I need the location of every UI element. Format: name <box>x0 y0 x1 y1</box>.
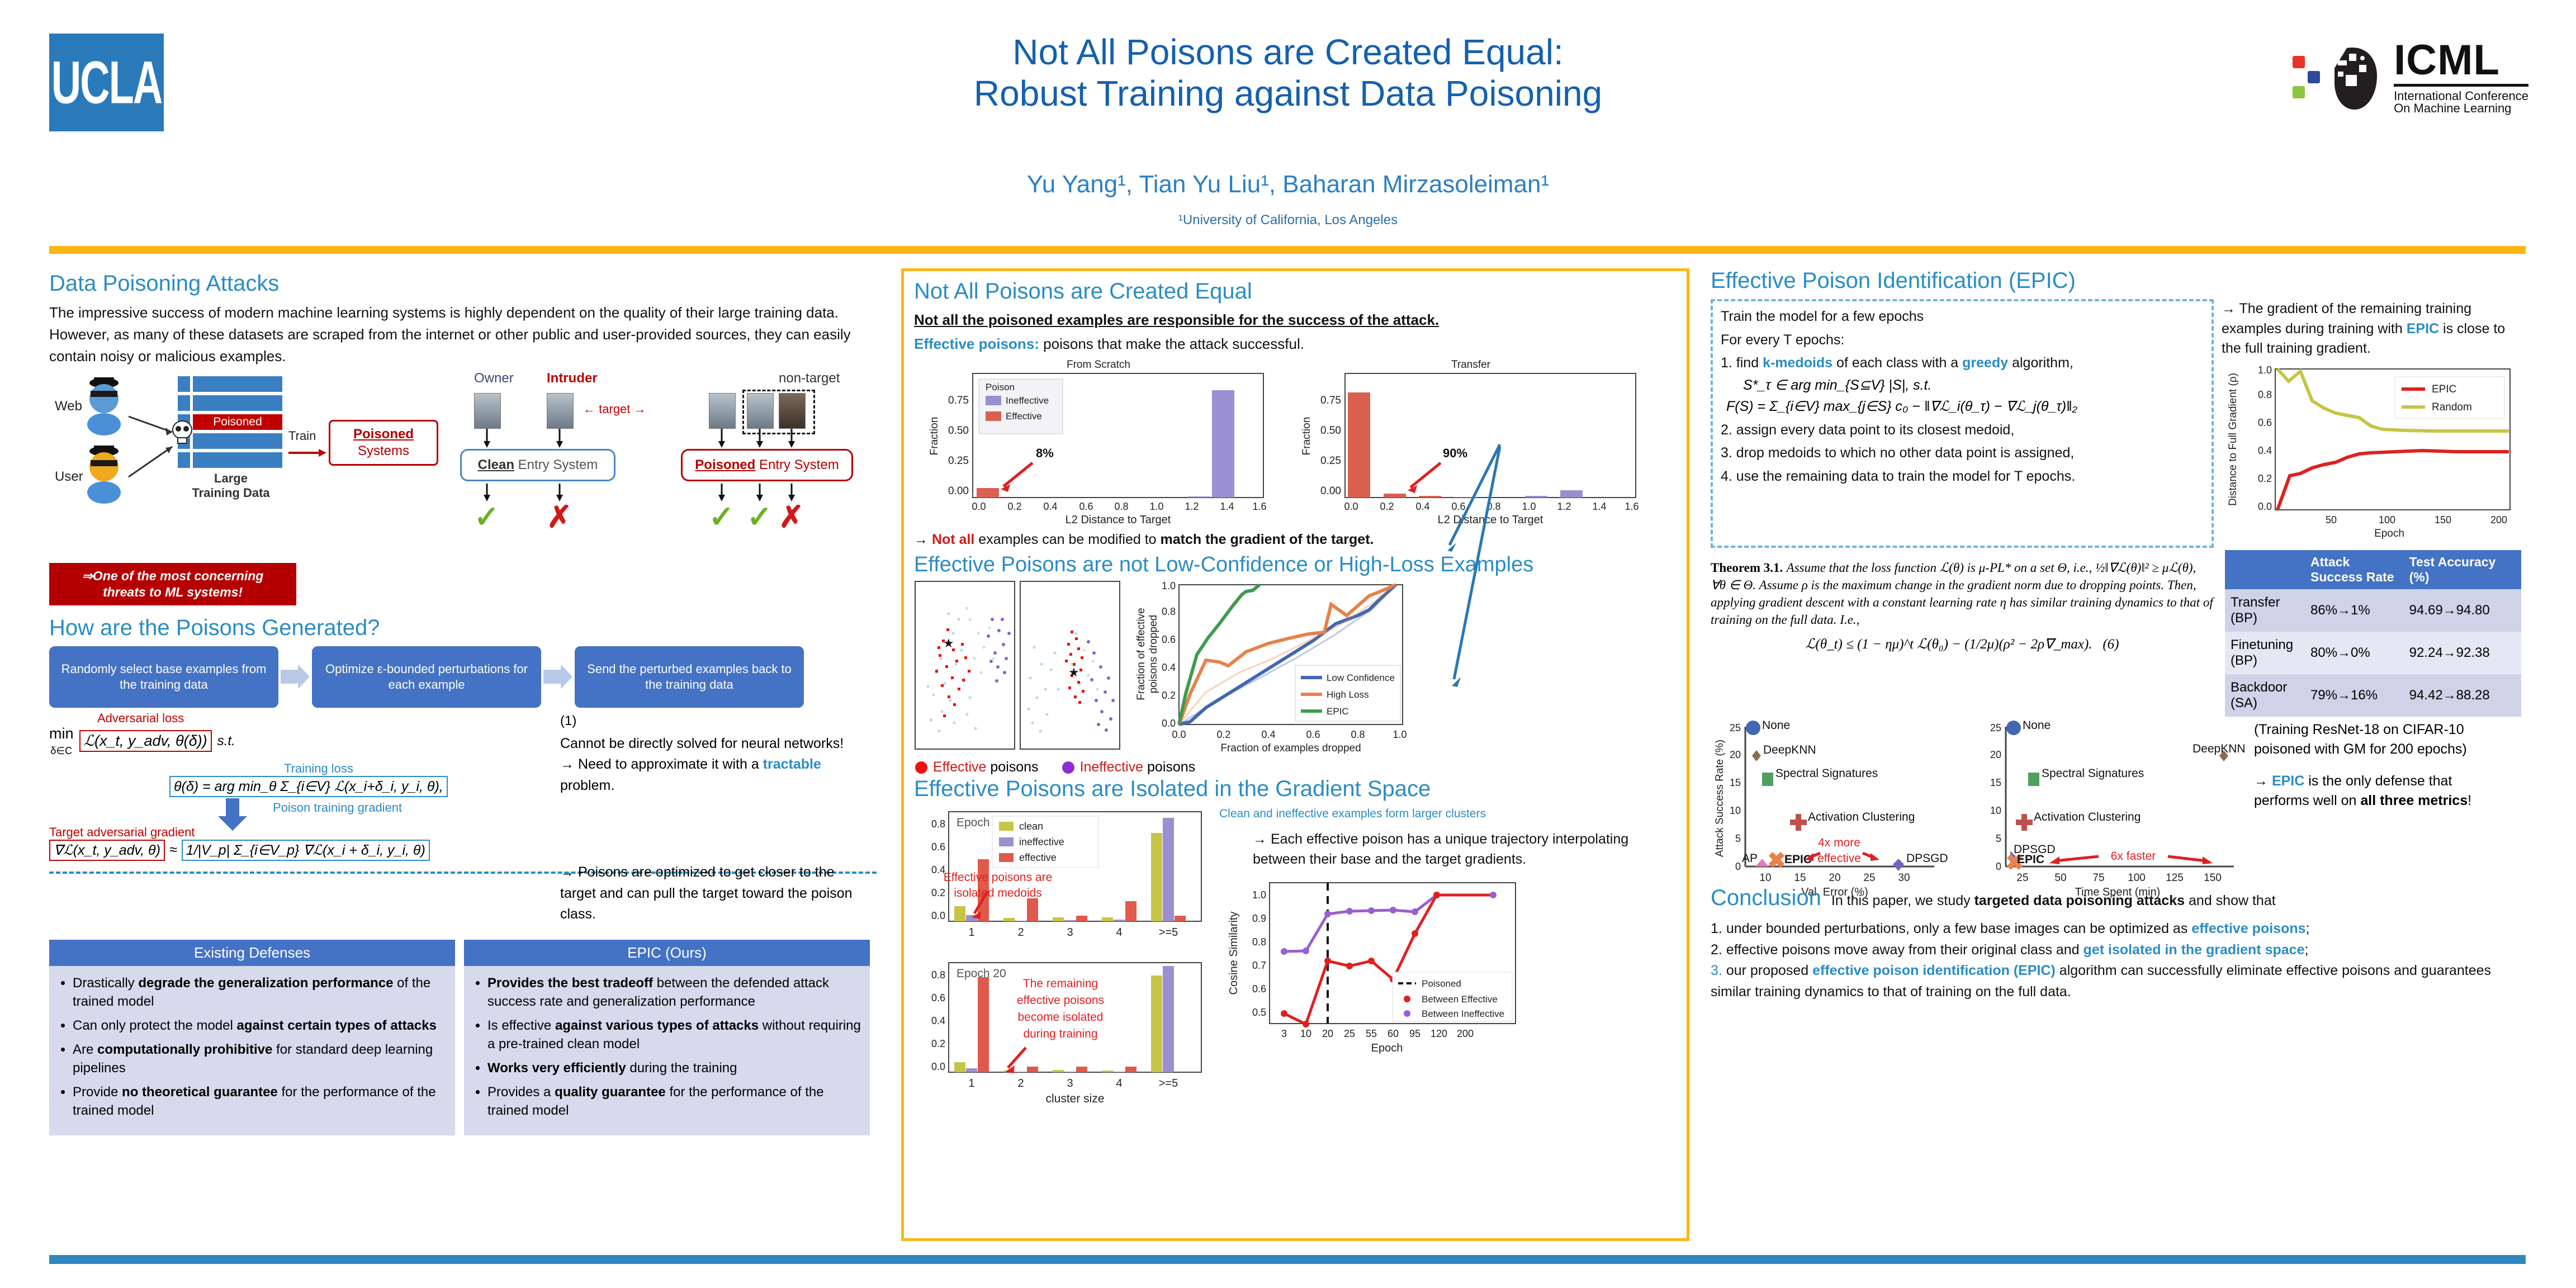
theorem-equation: ℒ(θ_t) ≤ (1 − ημ)^t ℒ(θ₀) − (1/2μ)(ρ² − … <box>1711 635 2214 654</box>
svg-text:Distance to Full Gradient (ρ): Distance to Full Gradient (ρ) <box>2227 373 2239 506</box>
chart-asr-vs-valerror: 0510 152025 Attack Success Rate (%) None… <box>1711 720 1968 905</box>
svg-text:1: 1 <box>968 1077 974 1090</box>
svg-text:25: 25 <box>1990 722 2001 733</box>
svg-text:5: 5 <box>1996 833 2001 844</box>
clean-entry-rest: Entry System <box>514 457 598 472</box>
svg-text:1.6: 1.6 <box>1625 501 1639 512</box>
svg-text:10: 10 <box>1300 1028 1311 1039</box>
svg-text:EPIC: EPIC <box>1327 706 1349 717</box>
svg-text:Effective: Effective <box>1006 411 1042 422</box>
adversarial-loss-label: Adversarial loss <box>97 711 552 726</box>
chart-cluster-epoch10: Epoch 10 0.00.20.40.60.8 clean ineffe <box>914 807 1216 958</box>
definition-text: Effective poisons: poisons that make the… <box>914 334 1677 354</box>
poster-root: UCLA Not All Poisons are Created Equal: … <box>0 0 2576 1288</box>
svg-text:Between Ineffective: Between Ineffective <box>1422 1008 1504 1019</box>
svg-text:1.4: 1.4 <box>1592 501 1606 512</box>
svg-text:8%: 8% <box>1036 446 1054 460</box>
svg-text:4: 4 <box>1116 926 1122 939</box>
svg-text:during training: during training <box>1023 1027 1097 1040</box>
svg-text:Fraction: Fraction <box>929 416 940 455</box>
user-icon <box>82 443 126 504</box>
section-data-poisoning-attacks-title: Data Poisoning Attacks <box>49 271 877 296</box>
svg-text:200: 200 <box>1457 1028 1474 1039</box>
legend-effective-word: Effective <box>933 759 986 775</box>
svg-text:0.2: 0.2 <box>931 887 945 898</box>
callout-black-text: → Each effective poison has a unique tra… <box>1253 830 1665 869</box>
theorem-table-row: Theorem 3.1. Assume that the loss functi… <box>1711 550 2532 717</box>
title-line-2: Robust Training against Data Poisoning <box>0 73 2576 114</box>
svg-text:Cosine Similarity: Cosine Similarity <box>1228 912 1240 995</box>
svg-text:0.8: 0.8 <box>1252 936 1266 948</box>
svg-text:15: 15 <box>1990 777 2001 788</box>
down-arrow-icon <box>217 798 248 831</box>
svg-text:>=5: >=5 <box>1159 926 1178 939</box>
svg-text:0.4: 0.4 <box>1415 501 1429 512</box>
equation-column: Adversarial loss min δ∈C ℒ(x_t, y_adv, θ… <box>49 711 552 925</box>
skull-icon <box>171 420 193 446</box>
svg-text:0.6: 0.6 <box>1306 729 1320 740</box>
chart-from-scratch-hist: From Scratch 0.000.250.500.75 Fraction 8… <box>914 359 1272 527</box>
defense-comparison: Existing Defenses Drastically degrade th… <box>49 940 877 1136</box>
svg-text:100: 100 <box>2379 514 2395 525</box>
poisoned-entry-rest: Entry System <box>755 457 839 472</box>
chart-cluster-epoch20: Epoch 20 0.00.20.40.60.8 The remaining e… <box>914 958 1216 1120</box>
intruder-label: Intruder <box>547 371 598 386</box>
face-owner <box>474 393 501 429</box>
svg-text:150: 150 <box>2204 872 2222 884</box>
list-item: Is effective against various types of at… <box>487 1016 861 1053</box>
eq1-body: ℒ(x_t, y_adv, θ(δ)) <box>79 730 212 752</box>
effective-dot-icon <box>914 760 929 775</box>
poison-generation-flow: Randomly select base examples from the t… <box>49 646 877 708</box>
svg-text:25: 25 <box>1863 872 1875 884</box>
table-header-asr: Attack Success Rate <box>2305 550 2404 589</box>
svg-text:0.6: 0.6 <box>931 841 945 853</box>
svg-text:100: 100 <box>2128 872 2146 884</box>
svg-text:0.5: 0.5 <box>1252 1007 1266 1018</box>
existing-defenses-header: Existing Defenses <box>49 940 455 966</box>
svg-text:10: 10 <box>1730 805 1741 816</box>
svg-text:3: 3 <box>1281 1028 1287 1039</box>
svg-text:1.0: 1.0 <box>1393 729 1407 740</box>
svg-text:4x more: 4x more <box>1818 836 1860 849</box>
svg-text:0: 0 <box>1996 861 2001 872</box>
chart-embedding-scatter-pair: ★ <box>914 580 1121 765</box>
algo-step-4: 4. use the remaining data to train the m… <box>1721 467 2204 487</box>
owner-label: Owner <box>474 371 514 386</box>
svg-text:10: 10 <box>1990 805 2001 816</box>
chart-distance-full-gradient: 0.00.20.4 0.60.81.0 Distance to Full Gra… <box>2222 363 2523 548</box>
svg-text:0.25: 0.25 <box>948 455 969 467</box>
epic-ours-body: Provides the best tradeoff between the d… <box>464 966 870 1136</box>
ineffective-dot-icon <box>1061 760 1076 775</box>
target-label: ← target → <box>583 402 646 416</box>
eq3-left: ∇ℒ(x_t, y_adv, θ) <box>49 840 165 861</box>
svg-text:0.4: 0.4 <box>1043 501 1057 512</box>
svg-text:1.4: 1.4 <box>1220 501 1234 512</box>
svg-text:Transfer: Transfer <box>1451 359 1491 371</box>
svg-text:0.75: 0.75 <box>1320 395 1341 406</box>
author-list: Yu Yang¹, Tian Yu Liu¹, Baharan Mirzasol… <box>0 171 2576 198</box>
list-item: Works very efficiently during the traini… <box>487 1059 861 1077</box>
scatter-and-curve-row: ★ <box>914 580 1677 765</box>
note-1-line-1: Cannot be directly solved for neural net… <box>560 733 873 755</box>
hacker-web-icon <box>82 375 126 435</box>
chart-cosine-similarity: 0.50.60.7 0.80.91.0 Cosine Similarity <box>1219 878 1532 1063</box>
svg-text:0.00: 0.00 <box>1320 485 1341 497</box>
icml-dots-icon <box>2293 56 2320 98</box>
eq1-min: min <box>49 725 74 742</box>
svg-text:3: 3 <box>1067 1077 1073 1090</box>
note-2: → Poisons are optimized to get closer to… <box>560 862 873 925</box>
ingest-arrows-icon <box>127 393 178 488</box>
svg-text:0.25: 0.25 <box>1320 455 1341 467</box>
algo-step-3: 3. drop medoids to which no other data p… <box>1721 443 2204 463</box>
train-arrow-icon <box>288 447 328 459</box>
threat-banner-line1: ⇒One of the most concerning <box>53 568 293 584</box>
chart-fraction-dropped: 0.00.20.4 0.60.81.0 Fraction of effectiv… <box>1128 580 1418 765</box>
svg-text:From Scratch: From Scratch <box>1067 359 1130 371</box>
svg-text:0.0: 0.0 <box>2258 501 2272 512</box>
svg-text:0.8: 0.8 <box>931 969 945 981</box>
check-icon-1: ✓ <box>474 499 499 534</box>
svg-text:Activation Clustering: Activation Clustering <box>1808 811 1915 823</box>
svg-text:0.6: 0.6 <box>1079 501 1093 512</box>
svg-text:25: 25 <box>1730 722 1741 733</box>
theorem-body: Assume that the loss function ℒ(θ) is μ-… <box>1711 561 2213 627</box>
svg-text:150: 150 <box>2435 514 2451 525</box>
svg-text:effective: effective <box>1817 852 1861 865</box>
svg-text:Spectral Signatures: Spectral Signatures <box>2042 767 2144 780</box>
algo-line-1: For every T epochs: <box>1721 330 2204 351</box>
svg-text:isolated medoids: isolated medoids <box>954 887 1042 899</box>
svg-text:1.2: 1.2 <box>1185 501 1199 512</box>
check-icon-3: ✓ <box>747 499 772 534</box>
epic-algorithm-box: Train the model for a few epochs For eve… <box>1711 299 2214 548</box>
svg-text:Effective poisons are: Effective poisons are <box>944 871 1053 884</box>
check-icon-2: ✓ <box>709 499 734 534</box>
existing-defenses-list: Drastically degrade the generalization p… <box>58 974 446 1120</box>
svg-text:15: 15 <box>1730 777 1741 788</box>
svg-text:0.6: 0.6 <box>931 992 945 1003</box>
icml-wordmark: ICML International Conference On Machine… <box>2394 39 2528 115</box>
svg-text:0.0: 0.0 <box>931 910 945 921</box>
svg-text:0.9: 0.9 <box>1252 913 1266 924</box>
section-epic-title: Effective Poison Identification (EPIC) <box>1711 268 2532 293</box>
svg-text:25: 25 <box>1344 1028 1355 1039</box>
takeaway-1: → Not all examples can be modified to ma… <box>914 530 1677 550</box>
svg-text:ineffective: ineffective <box>1019 836 1064 847</box>
svg-text:1.0: 1.0 <box>1149 501 1163 512</box>
svg-text:1.0: 1.0 <box>1522 501 1536 512</box>
flow-step-3: Send the perturbed examples back to the … <box>575 646 804 708</box>
row-label-finetuning: Finetuning (BP) <box>2225 632 2305 674</box>
icml-logo: ICML International Conference On Machine… <box>2293 39 2528 115</box>
svg-text:>=5: >=5 <box>1159 1077 1178 1090</box>
svg-text:Random: Random <box>2432 401 2472 413</box>
section-how-poisons-generated-title: How are the Poisons Generated? <box>49 615 877 641</box>
page-title: Not All Poisons are Created Equal: Robus… <box>0 31 2576 114</box>
row-asr-backdoor: 79%→16% <box>2305 674 2404 717</box>
clean-entry-bold: Clean <box>478 457 514 472</box>
svg-text:Fraction: Fraction <box>1301 416 1313 455</box>
svg-text:0.50: 0.50 <box>1320 425 1341 437</box>
svg-text:2: 2 <box>1017 926 1024 939</box>
svg-text:0.00: 0.00 <box>948 485 969 497</box>
svg-text:200: 200 <box>2490 514 2507 525</box>
svg-text:High Loss: High Loss <box>1327 689 1369 700</box>
svg-text:90%: 90% <box>1443 446 1467 460</box>
svg-text:0.2: 0.2 <box>1007 501 1021 512</box>
chart-asr-vs-time: 0510 152025 None DeepKNN Spectral Signat… <box>1971 720 2251 905</box>
svg-text:0.50: 0.50 <box>948 425 969 437</box>
flow-step-2: Optimize ε-bounded perturbations for eac… <box>312 646 541 708</box>
equation-area: Adversarial loss min δ∈C ℒ(x_t, y_adv, θ… <box>49 711 877 925</box>
svg-text:1.0: 1.0 <box>1162 580 1176 591</box>
training-data-label: Training Data <box>178 486 284 500</box>
flow-arrow-2-icon <box>543 665 572 689</box>
row-asr-transfer: 86%→1% <box>2305 589 2404 632</box>
flow-arrow-1-icon <box>281 665 310 689</box>
svg-text:0.0: 0.0 <box>1172 729 1186 740</box>
svg-text:0: 0 <box>1735 861 1741 872</box>
svg-text:3: 3 <box>1067 926 1073 939</box>
web-label: Web <box>55 399 82 414</box>
table-row: Transfer (BP) 86%→1% 94.69→94.80 <box>2225 589 2521 632</box>
title-line-1: Not All Poisons are Created Equal: <box>0 31 2576 73</box>
svg-text:Fraction of effective: Fraction of effective <box>1135 608 1147 700</box>
list-item: Provides a quality guarantee for the per… <box>487 1083 861 1120</box>
svg-text:The remaining: The remaining <box>1023 977 1098 990</box>
epic-ours-card: EPIC (Ours) Provides the best tradeoff b… <box>464 940 870 1136</box>
svg-text:0.7: 0.7 <box>1252 960 1266 971</box>
icml-rule <box>2394 84 2528 87</box>
conclusion-title: Conclusion <box>1711 885 1821 911</box>
svg-text:DPSGD: DPSGD <box>1906 852 1948 865</box>
svg-text:1.6: 1.6 <box>1252 501 1266 512</box>
icml-sub-2: On Machine Learning <box>2394 102 2528 115</box>
epic-ours-list: Provides the best tradeoff between the d… <box>473 974 861 1120</box>
svg-text:Low Confidence: Low Confidence <box>1327 673 1395 683</box>
claim-text: Not all the poisoned examples are respon… <box>914 310 1677 330</box>
svg-text:Fraction of examples dropped: Fraction of examples dropped <box>1220 742 1361 754</box>
svg-text:effective poisons: effective poisons <box>1017 994 1104 1007</box>
svg-text:0.2: 0.2 <box>1380 501 1394 512</box>
svg-text:95: 95 <box>1409 1028 1420 1039</box>
eq-number: (1) <box>560 711 873 731</box>
svg-text:20: 20 <box>1990 749 2001 760</box>
section-not-all-poisons-title: Not All Poisons are Created Equal <box>914 279 1677 304</box>
svg-text:0.0: 0.0 <box>931 1061 945 1072</box>
svg-text:30: 30 <box>1898 872 1910 884</box>
table-row: Finetuning (BP) 80%→0% 92.24→92.38 <box>2225 632 2521 674</box>
threat-banner-line2: threats to ML systems! <box>53 584 293 600</box>
svg-text:Poisoned: Poisoned <box>1422 978 1461 989</box>
poisoned-systems-line2: Systems <box>336 443 431 460</box>
defense-scatter-row: 0510 152025 Attack Success Rate (%) None… <box>1711 720 2532 905</box>
section-not-low-conf-title: Effective Poisons are not Low-Confidence… <box>914 553 1677 577</box>
svg-text:0.0: 0.0 <box>972 501 986 512</box>
svg-text:cluster size: cluster size <box>1045 1092 1104 1105</box>
eq2: θ(δ) = arg min_θ Σ_{i∈V} ℒ(x_i+δ_i, y_i,… <box>169 776 552 797</box>
svg-text:DeepKNN: DeepKNN <box>1763 744 1816 756</box>
row-acc-transfer: 94.69→94.80 <box>2404 589 2521 632</box>
svg-text:★: ★ <box>1068 665 1079 679</box>
poisoned-chip: Poisoned <box>193 414 282 430</box>
algo-formula-1: S*_τ ∈ arg min_{S⊆V} |S|, s.t. <box>1743 377 2204 394</box>
callout-blue-text: Clean and ineffective examples form larg… <box>1219 807 1677 821</box>
svg-text:120: 120 <box>1431 1028 1447 1039</box>
svg-text:0.8: 0.8 <box>931 818 945 830</box>
results-table: Attack Success Rate Test Accuracy (%) Tr… <box>2225 550 2521 717</box>
svg-text:0.75: 0.75 <box>948 395 969 406</box>
threat-banner: ⇒One of the most concerning threats to M… <box>49 563 296 605</box>
face-target <box>709 393 736 429</box>
gold-divider <box>49 246 2526 254</box>
section-isolated-gradient-title: Effective Poisons are Isolated in the Gr… <box>914 776 1677 802</box>
list-item: Drastically degrade the generalization p… <box>73 974 446 1011</box>
svg-text:0.2: 0.2 <box>1216 729 1230 740</box>
algo-step-2: 2. assign every data point to its closes… <box>1721 420 2204 441</box>
svg-text:Poison: Poison <box>986 382 1015 392</box>
right-column: Effective Poison Identification (EPIC) T… <box>1711 268 2532 1002</box>
svg-text:0.4: 0.4 <box>2258 445 2272 456</box>
svg-text:0.4: 0.4 <box>1162 662 1176 673</box>
svg-text:0.8: 0.8 <box>2258 389 2272 400</box>
svg-text:60: 60 <box>1388 1028 1399 1039</box>
svg-text:0.6: 0.6 <box>1451 501 1465 512</box>
table-header-acc: Test Accuracy (%) <box>2404 550 2521 589</box>
svg-text:clean: clean <box>1019 821 1043 832</box>
svg-text:0.4: 0.4 <box>1261 729 1275 740</box>
list-item: Are computationally prohibitive for stan… <box>73 1040 446 1077</box>
poisoned-entry-system-box: Poisoned Entry System <box>681 449 853 481</box>
face-nontarget-1 <box>747 393 774 429</box>
cluster-bars-column: Epoch 10 0.00.20.40.60.8 clean ineffe <box>914 807 1216 1120</box>
svg-text:0.0: 0.0 <box>1162 718 1176 729</box>
svg-text:6x faster: 6x faster <box>2111 850 2156 863</box>
svg-text:None: None <box>1762 720 1790 732</box>
icml-head-icon <box>2330 44 2384 111</box>
clean-entry-system-box: Clean Entry System <box>460 449 615 481</box>
eq3-right: 1/|V_p| Σ_{i∈V_p} ∇ℒ(x_i + δ_i, y_i, θ) <box>182 840 430 861</box>
svg-text:Epoch: Epoch <box>2374 528 2404 539</box>
gradient-note-text: → The gradient of the remaining training… <box>2222 299 2523 359</box>
left-column: Data Poisoning Attacks The impressive su… <box>49 271 877 1135</box>
svg-text:Attack Success Rate (%): Attack Success Rate (%) <box>1714 739 1726 856</box>
poisoned-systems-box: Poisoned Systems <box>329 420 438 466</box>
user-label: User <box>55 469 83 485</box>
eq1-sub: δ∈C <box>50 745 72 756</box>
flow-step-1: Randomly select base examples from the t… <box>49 646 278 708</box>
face-intruder <box>547 393 574 429</box>
svg-text:20: 20 <box>1829 872 1840 884</box>
svg-text:50: 50 <box>2054 872 2066 884</box>
svg-text:Ineffective: Ineffective <box>1006 395 1049 406</box>
svg-text:15: 15 <box>1794 872 1806 884</box>
algo-step-1: 1. find k-medoids of each class with a g… <box>1721 353 2204 373</box>
middle-column: Not All Poisons are Created Equal Not al… <box>901 268 1689 1241</box>
large-label: Large <box>178 471 284 486</box>
eq1-st: s.t. <box>217 733 235 749</box>
icml-sub-1: International Conference <box>2394 90 2528 102</box>
cross-icon-1: ✗ <box>547 499 572 534</box>
row-acc-finetuning: 92.24→92.38 <box>2404 632 2521 674</box>
cosine-column: Clean and ineffective examples form larg… <box>1219 807 1677 1120</box>
svg-text:L2 Distance to Target: L2 Distance to Target <box>1438 514 1543 526</box>
table-side-note: (Training ResNet-18 on CIFAR-10 poisoned… <box>2254 720 2483 905</box>
svg-text:★: ★ <box>943 636 954 650</box>
histogram-row: From Scratch 0.000.250.500.75 Fraction 8… <box>914 359 1677 527</box>
svg-text:1.2: 1.2 <box>1557 501 1571 512</box>
svg-text:None: None <box>2023 720 2051 732</box>
affiliation: ¹University of California, Los Angeles <box>0 212 2576 228</box>
svg-text:effective: effective <box>1019 852 1057 863</box>
algo-formula-2: F(S) = Σ_{i∈V} max_{j∈S} c₀ − ‖∇ℒ_i(θ_τ)… <box>1726 398 2204 415</box>
svg-text:55: 55 <box>1366 1028 1377 1039</box>
conclusion-lead: In this paper, we study targeted data po… <box>1831 885 2276 911</box>
svg-text:0.8: 0.8 <box>1351 729 1365 740</box>
svg-text:0.8: 0.8 <box>1162 606 1176 617</box>
poisoned-entry-bold: Poisoned <box>695 457 755 472</box>
icml-acronym: ICML <box>2394 39 2528 82</box>
row-label-backdoor: Backdoor (SA) <box>2225 674 2305 717</box>
legend-ineffective-word: Ineffective <box>1080 759 1144 775</box>
svg-text:0.8: 0.8 <box>1486 501 1500 512</box>
face-nontarget-2 <box>779 393 806 429</box>
svg-text:0.2: 0.2 <box>1162 690 1176 701</box>
table-caption: (Training ResNet-18 on CIFAR-10 poisoned… <box>2254 720 2483 759</box>
training-data-stack: Poisoned Large Training Data <box>178 376 284 501</box>
intro-paragraph: The impressive success of modern machine… <box>49 302 877 367</box>
gradient-note-column: → The gradient of the remaining training… <box>2222 299 2523 548</box>
epic-ours-header: EPIC (Ours) <box>464 940 870 966</box>
list-item: Can only protect the model against certa… <box>73 1016 446 1035</box>
equation-notes: (1) Cannot be directly solved for neural… <box>552 711 873 925</box>
epic-row: Train the model for a few epochs For eve… <box>1711 299 2532 548</box>
face-to-system-arrows-icon <box>471 429 818 449</box>
train-arrow-label: Train <box>288 429 316 443</box>
svg-text:2: 2 <box>1017 1077 1024 1090</box>
svg-text:125: 125 <box>2166 872 2184 884</box>
svg-text:5: 5 <box>1735 833 1741 844</box>
svg-text:0.6: 0.6 <box>1162 634 1176 645</box>
list-item: 3. our proposed effective poison identif… <box>1711 960 2532 1002</box>
list-item: Provides the best tradeoff between the d… <box>487 974 861 1011</box>
table-header-blank <box>2225 550 2305 589</box>
svg-text:4: 4 <box>1116 1077 1122 1090</box>
svg-text:0.4: 0.4 <box>931 1015 945 1026</box>
chart-transfer-hist: Transfer 0.000.250.500.75 Fraction 90% 0… <box>1286 359 1644 527</box>
svg-text:Activation Clustering: Activation Clustering <box>2034 811 2141 823</box>
table-header-row: Attack Success Rate Test Accuracy (%) <box>2225 550 2521 589</box>
row-acc-backdoor: 94.42→88.28 <box>2404 674 2521 717</box>
blue-footer-bar <box>49 1255 2526 1264</box>
svg-text:DeepKNN: DeepKNN <box>2193 742 2246 755</box>
svg-text:AP: AP <box>1742 852 1758 865</box>
svg-text:0.0: 0.0 <box>1344 501 1358 512</box>
svg-text:0.8: 0.8 <box>1114 501 1128 512</box>
poisoned-systems-line1: Poisoned <box>336 426 431 443</box>
conclusion-list: 1. under bounded perturbations, only a f… <box>1711 918 2532 1002</box>
theorem-label: Theorem 3.1. <box>1711 561 1783 575</box>
existing-defenses-card: Existing Defenses Drastically degrade th… <box>49 940 455 1136</box>
list-item: 2. effective poisons move away from thei… <box>1711 940 2532 961</box>
svg-text:0.6: 0.6 <box>1252 983 1266 995</box>
svg-text:20: 20 <box>1322 1028 1333 1039</box>
svg-text:25: 25 <box>2016 872 2028 884</box>
svg-text:50: 50 <box>2326 514 2337 525</box>
